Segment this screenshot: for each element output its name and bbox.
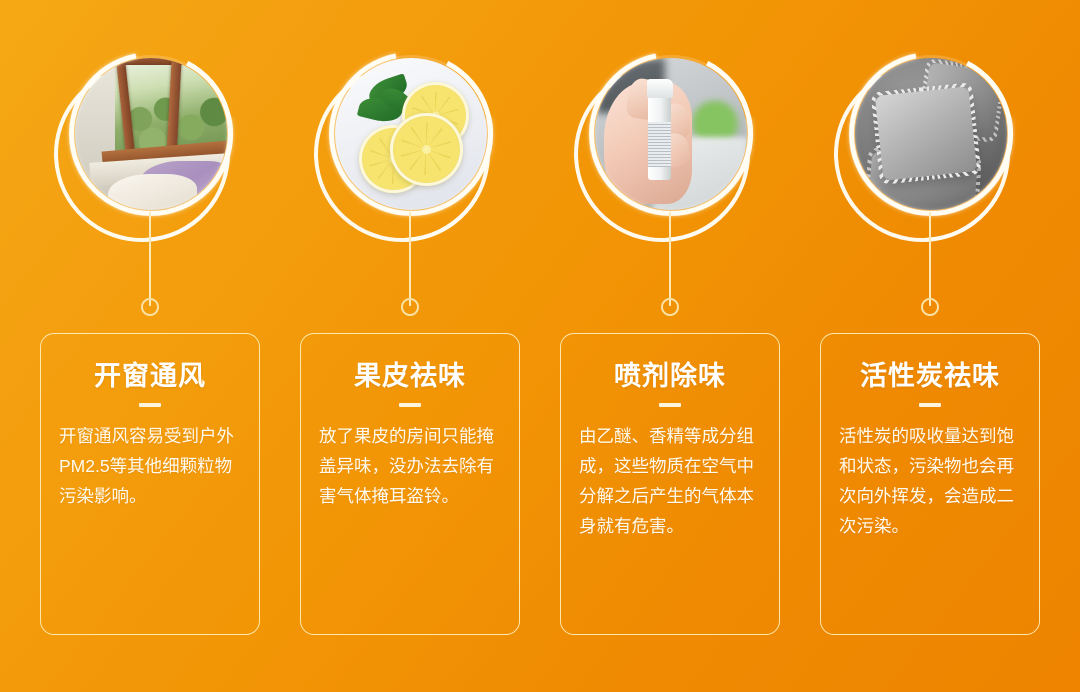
column-spray: 喷剂除味 由乙醚、香精等成分组成，这些物质在空气中分解之后产生的气体本身就有危害…: [540, 0, 800, 692]
title-divider: [139, 403, 161, 407]
card-title: 喷剂除味: [575, 362, 765, 392]
connector-node-icon: [921, 298, 939, 316]
card-title: 活性炭祛味: [835, 362, 1025, 392]
connector-node-icon: [141, 298, 159, 316]
card-title: 果皮祛味: [315, 362, 505, 392]
card-ventilation[interactable]: 开窗通风 开窗通风容易受到户外PM2.5等其他细颗粒物污染影响。: [40, 333, 260, 635]
connector-line: [669, 212, 671, 306]
column-ventilation: 开窗通风 开窗通风容易受到户外PM2.5等其他细颗粒物污染影响。: [20, 0, 280, 692]
connector-line: [929, 212, 931, 306]
card-body: 活性炭的吸收量达到饱和状态，污染物也会再次向外挥发，会造成二次污染。: [835, 421, 1025, 541]
card-body: 放了果皮的房间只能掩盖异味，没办法去除有害气体掩耳盗铃。: [315, 421, 505, 511]
card-title: 开窗通风: [55, 362, 245, 392]
connector-line: [409, 212, 411, 306]
card-body: 由乙醚、香精等成分组成，这些物质在空气中分解之后产生的气体本身就有危害。: [575, 421, 765, 541]
card-fruit-peel[interactable]: 果皮祛味 放了果皮的房间只能掩盖异味，没办法去除有害气体掩耳盗铃。: [300, 333, 520, 635]
card-activated-charcoal[interactable]: 活性炭祛味 活性炭的吸收量达到饱和状态，污染物也会再次向外挥发，会造成二次污染。: [820, 333, 1040, 635]
connector-line: [149, 212, 151, 306]
title-divider: [659, 403, 681, 407]
infographic-canvas: 开窗通风 开窗通风容易受到户外PM2.5等其他细颗粒物污染影响。: [0, 0, 1080, 692]
card-spray[interactable]: 喷剂除味 由乙醚、香精等成分组成，这些物质在空气中分解之后产生的气体本身就有危害…: [560, 333, 780, 635]
title-divider: [399, 403, 421, 407]
title-divider: [919, 403, 941, 407]
connector-node-icon: [401, 298, 419, 316]
connector-node-icon: [661, 298, 679, 316]
column-activated-charcoal: 活性炭祛味 活性炭的吸收量达到饱和状态，污染物也会再次向外挥发，会造成二次污染。: [800, 0, 1060, 692]
card-body: 开窗通风容易受到户外PM2.5等其他细颗粒物污染影响。: [55, 421, 245, 511]
column-fruit-peel: 果皮祛味 放了果皮的房间只能掩盖异味，没办法去除有害气体掩耳盗铃。: [280, 0, 540, 692]
